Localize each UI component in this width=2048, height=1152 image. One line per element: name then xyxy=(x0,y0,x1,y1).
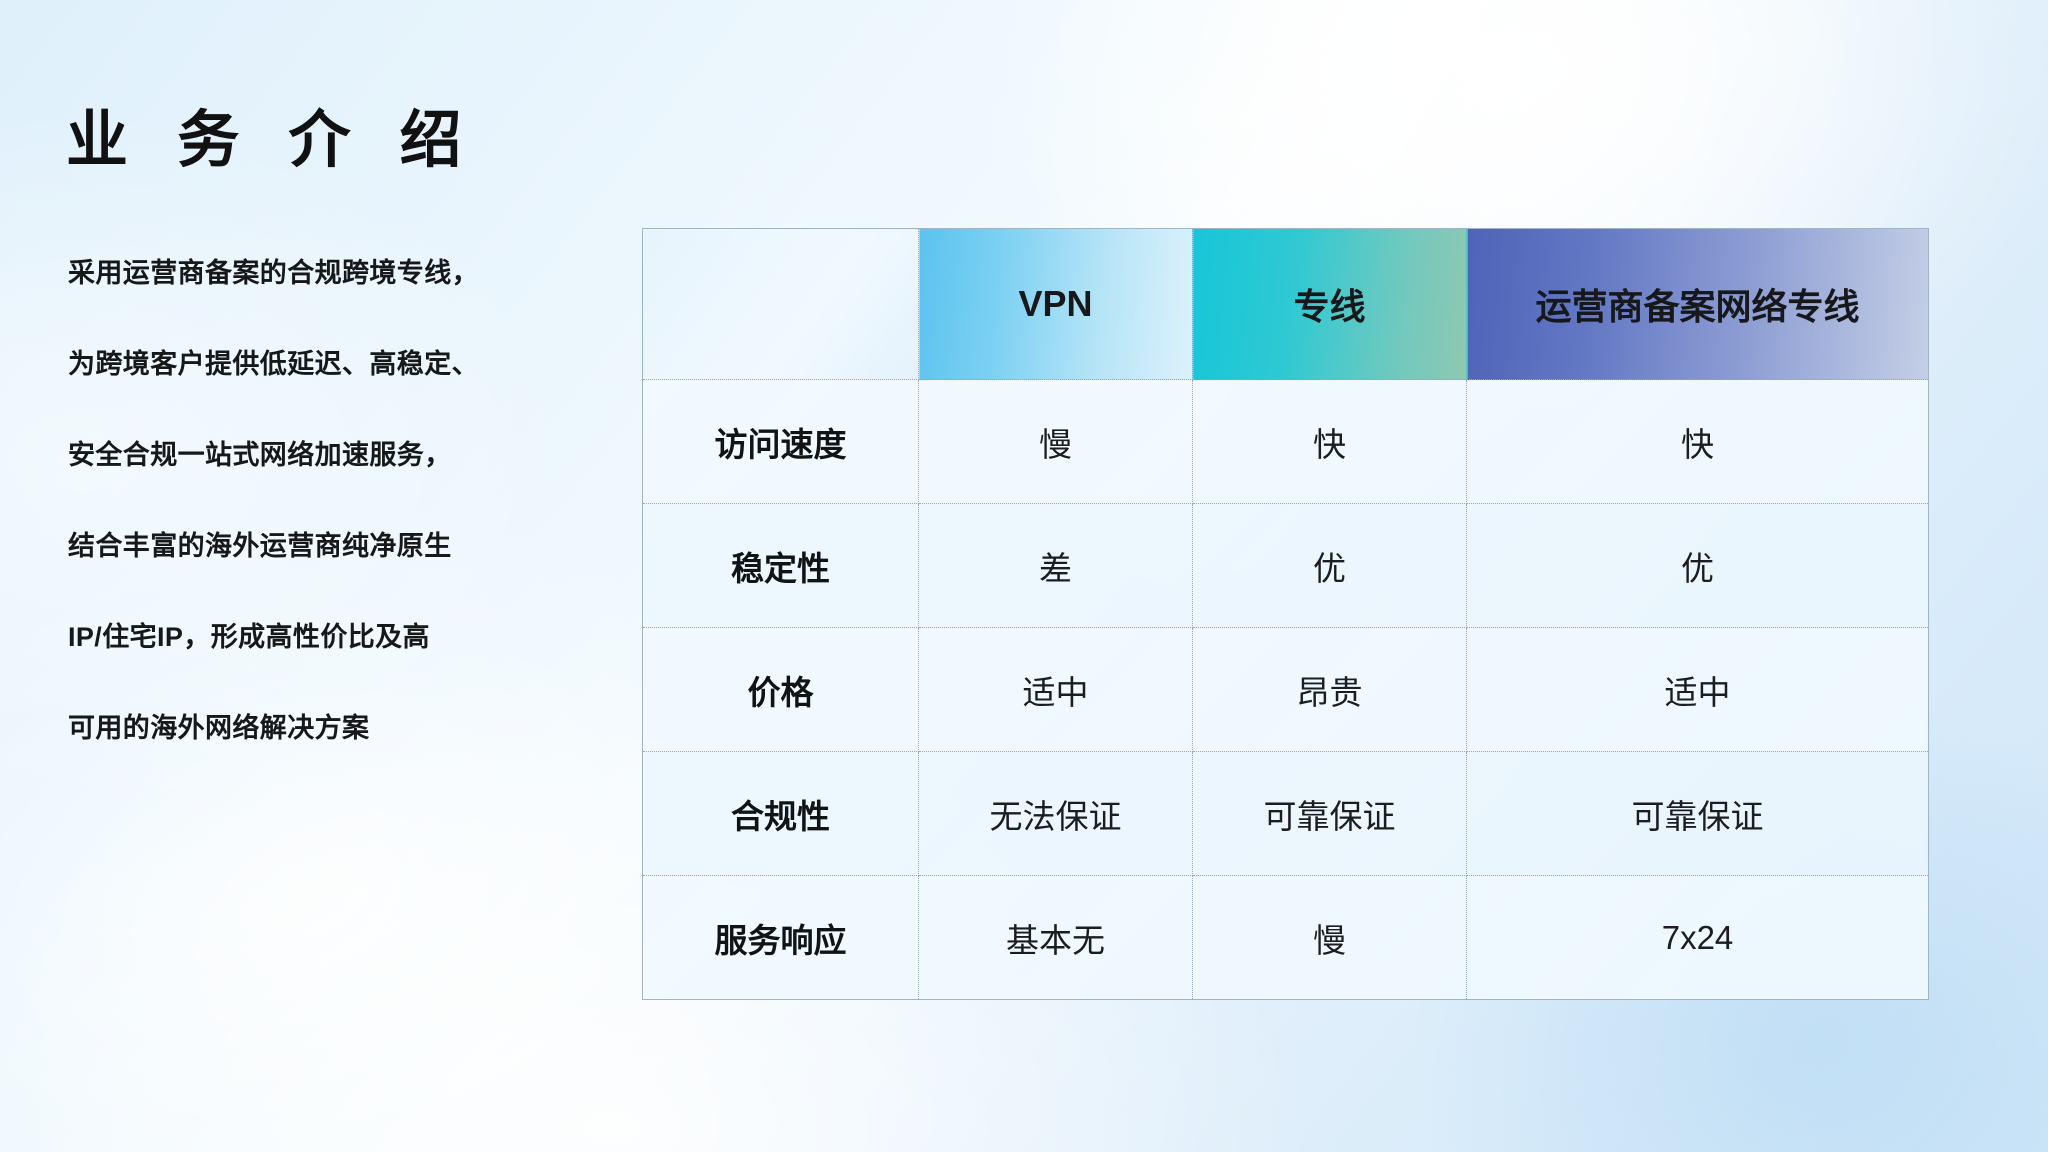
table-row: 合规性 无法保证 可靠保证 可靠保证 xyxy=(643,752,1929,876)
cell-compliance-vpn: 无法保证 xyxy=(919,752,1193,876)
row-label-service-response: 服务响应 xyxy=(643,876,919,1000)
intro-line-3: 安全合规一站式网络加速服务， xyxy=(68,410,628,501)
table-row: 稳定性 差 优 优 xyxy=(643,504,1929,628)
table-header-blank xyxy=(643,229,919,380)
page-title: 业 务 介 绍 xyxy=(66,104,478,178)
row-label-compliance: 合规性 xyxy=(643,752,919,876)
table-header-line: 专线 xyxy=(1193,229,1467,380)
comparison-table: VPN 专线 运营商备案网络专线 访问速度 慢 快 快 稳定性 差 优 优 xyxy=(642,228,1929,1000)
row-label-stability: 稳定性 xyxy=(643,504,919,628)
cell-access-speed-line: 快 xyxy=(1193,380,1467,504)
intro-line-5: IP/住宅IP，形成高性价比及高 xyxy=(68,592,628,683)
table-header: VPN 专线 运营商备案网络专线 xyxy=(643,229,1929,380)
table-row: 访问速度 慢 快 快 xyxy=(643,380,1929,504)
cell-stability-vpn: 差 xyxy=(919,504,1193,628)
table-header-carrier: 运营商备案网络专线 xyxy=(1467,229,1929,380)
cell-compliance-carrier: 可靠保证 xyxy=(1467,752,1929,876)
cell-service-response-carrier: 7x24 xyxy=(1467,876,1929,1000)
table-row: 服务响应 基本无 慢 7x24 xyxy=(643,876,1929,1000)
cell-stability-carrier: 优 xyxy=(1467,504,1929,628)
intro-line-4: 结合丰富的海外运营商纯净原生 xyxy=(68,501,628,592)
cell-price-vpn: 适中 xyxy=(919,628,1193,752)
cell-service-response-vpn: 基本无 xyxy=(919,876,1193,1000)
intro-line-6: 可用的海外网络解决方案 xyxy=(68,683,628,774)
table-row: 价格 适中 昂贵 适中 xyxy=(643,628,1929,752)
cell-access-speed-carrier: 快 xyxy=(1467,380,1929,504)
intro-line-2: 为跨境客户提供低延迟、高稳定、 xyxy=(68,319,628,410)
cell-price-carrier: 适中 xyxy=(1467,628,1929,752)
cell-compliance-line: 可靠保证 xyxy=(1193,752,1467,876)
cell-service-response-line: 慢 xyxy=(1193,876,1467,1000)
table-header-vpn: VPN xyxy=(919,229,1193,380)
intro-line-1: 采用运营商备案的合规跨境专线， xyxy=(68,228,628,319)
table-header-row: VPN 专线 运营商备案网络专线 xyxy=(643,229,1929,380)
slide-canvas: 业 务 介 绍 采用运营商备案的合规跨境专线， 为跨境客户提供低延迟、高稳定、 … xyxy=(0,0,2048,1152)
intro-paragraph: 采用运营商备案的合规跨境专线， 为跨境客户提供低延迟、高稳定、 安全合规一站式网… xyxy=(68,228,628,774)
cell-price-line: 昂贵 xyxy=(1193,628,1467,752)
row-label-access-speed: 访问速度 xyxy=(643,380,919,504)
table-body: 访问速度 慢 快 快 稳定性 差 优 优 价格 适中 昂贵 适中 xyxy=(643,380,1929,1000)
comparison-table-container: VPN 专线 运营商备案网络专线 访问速度 慢 快 快 稳定性 差 优 优 xyxy=(642,228,1928,1000)
cell-stability-line: 优 xyxy=(1193,504,1467,628)
row-label-price: 价格 xyxy=(643,628,919,752)
cell-access-speed-vpn: 慢 xyxy=(919,380,1193,504)
